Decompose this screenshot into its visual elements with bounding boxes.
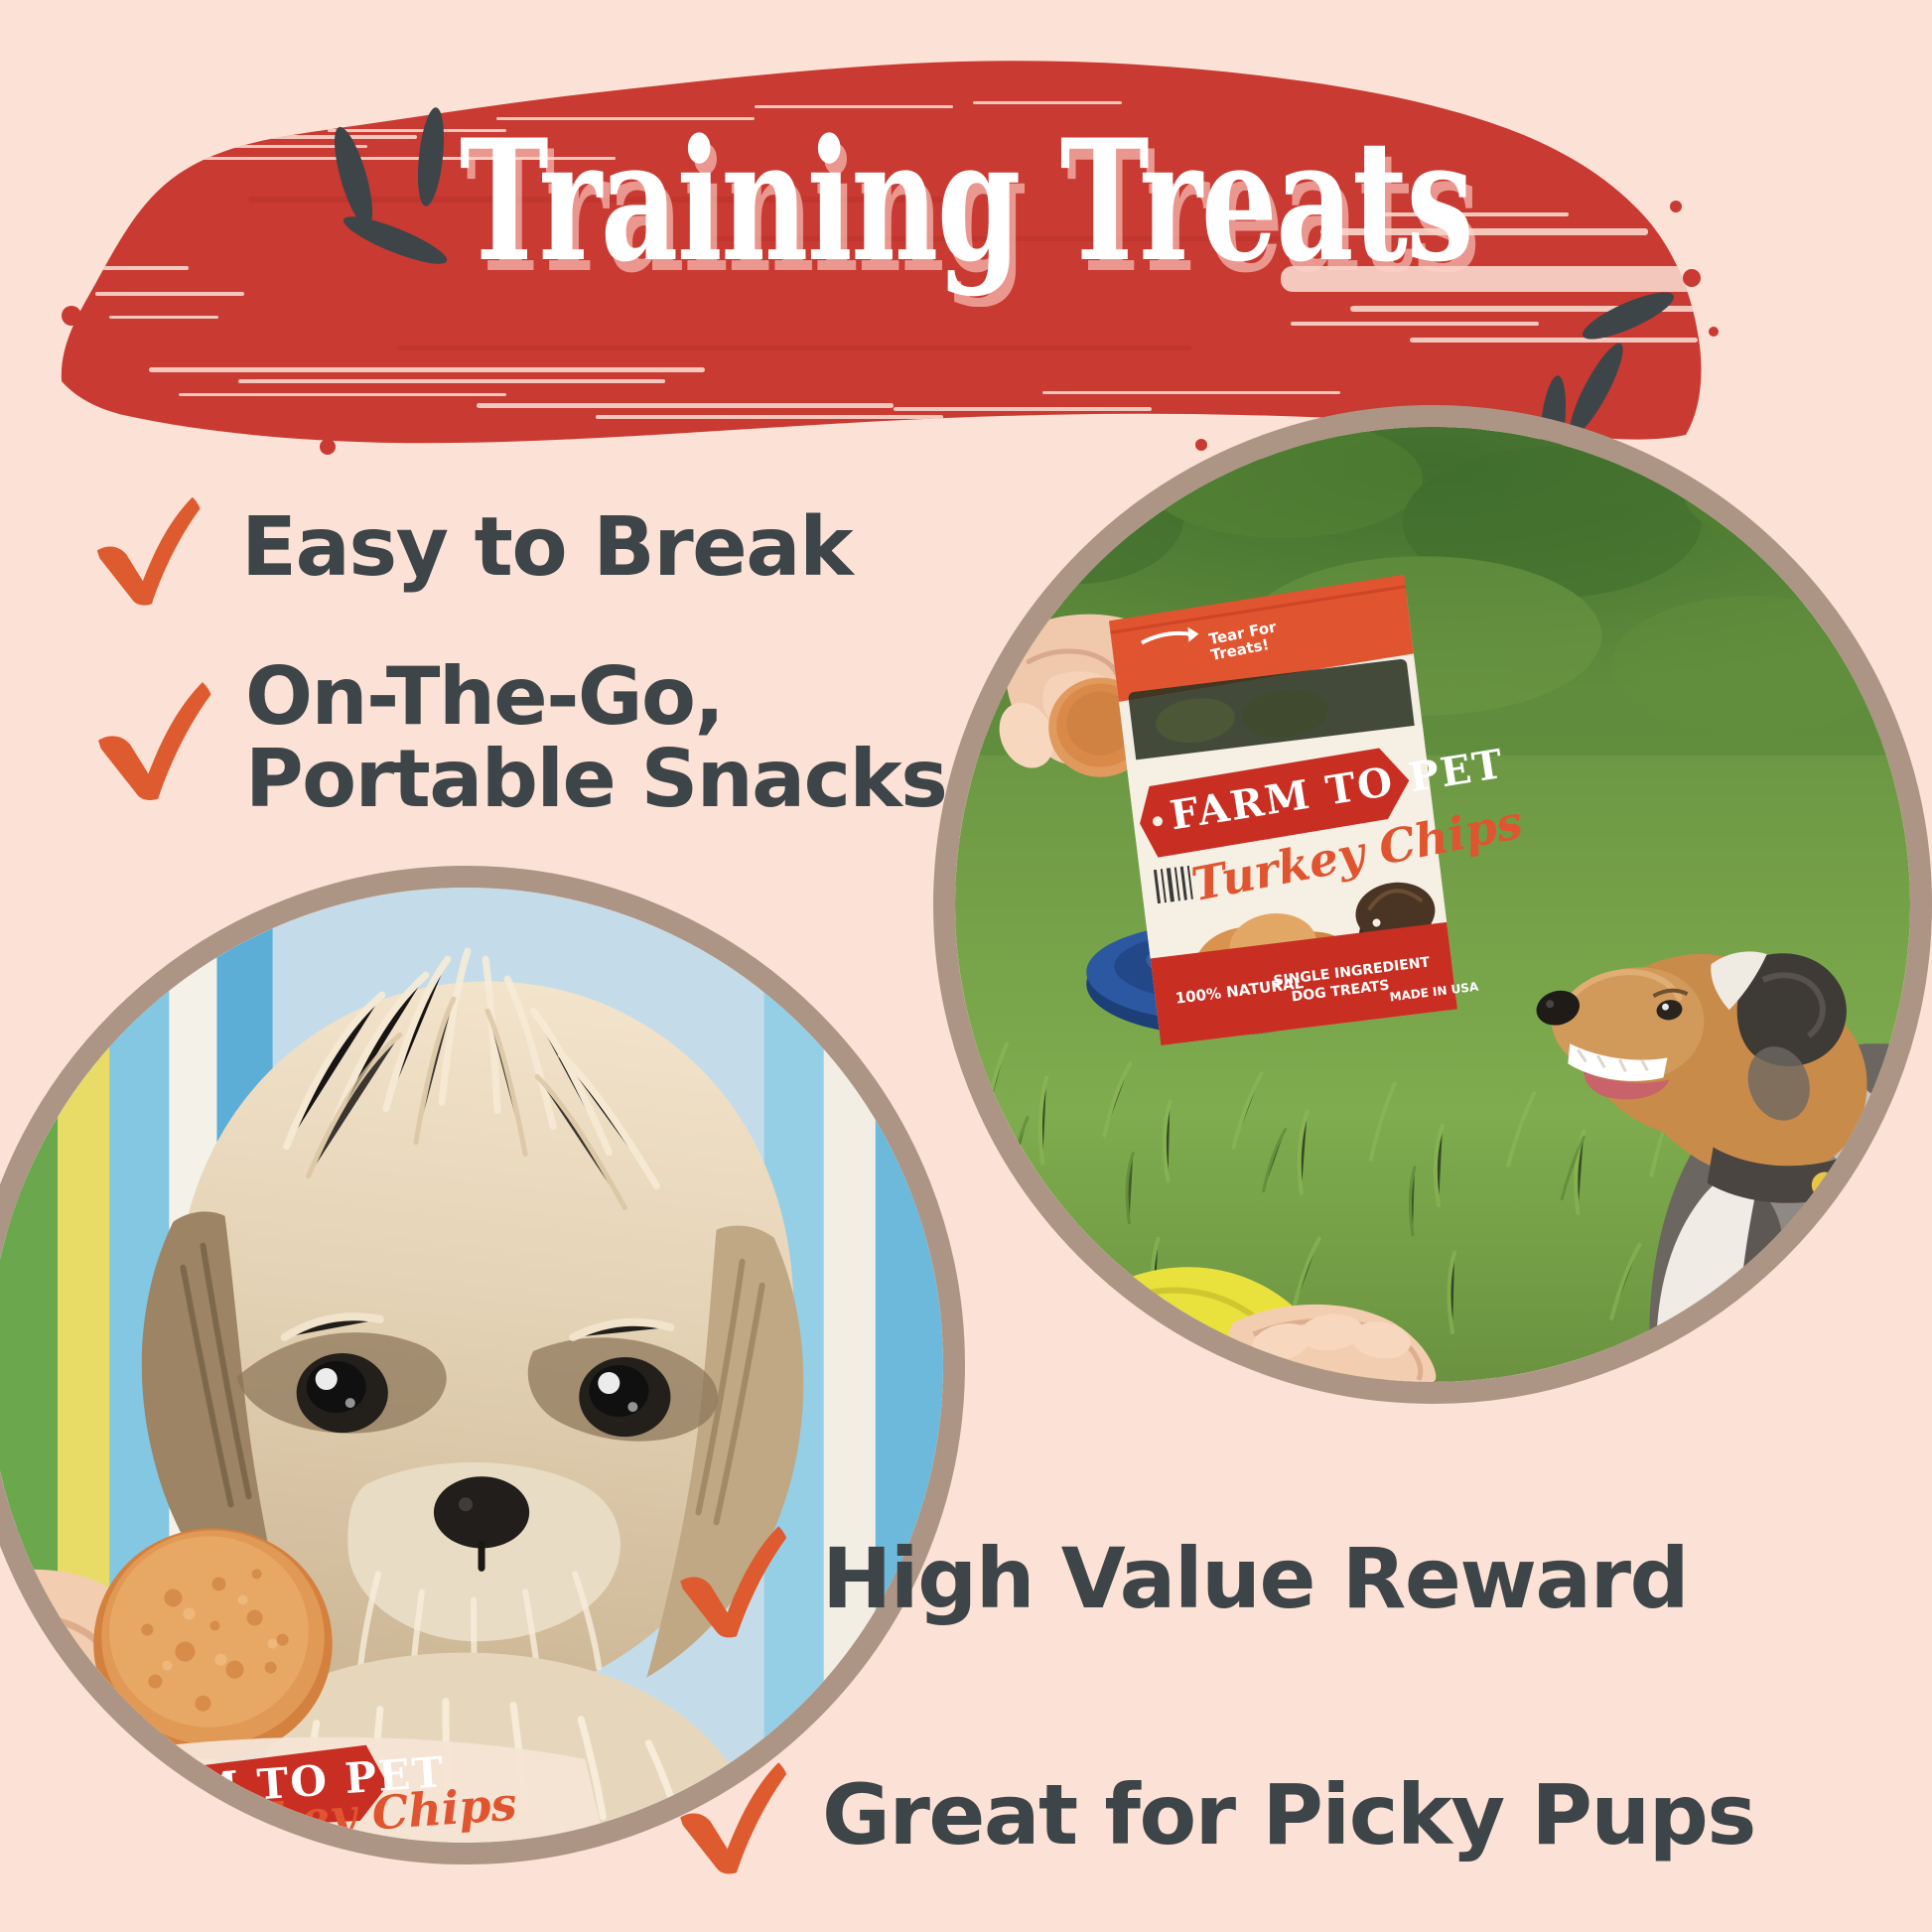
feature-item-on-the-go: On-The-Go, Portable Snacks [84, 655, 946, 820]
photo-dog-with-package: Tear For Treats! FARM TO PET Turkey Chip… [933, 405, 1932, 1404]
checkmark-icon [84, 484, 211, 612]
feature-item-high-value-reward: High Value Reward [667, 1513, 1688, 1644]
checkmark-icon [667, 1749, 798, 1880]
page-title: Training Treats [270, 117, 1661, 284]
photo-dog-sniffing-treat: FARM TO PET Turkey Chips Small cream col… [0, 866, 965, 1864]
photo-inner-topright: Tear For Treats! FARM TO PET Turkey Chip… [955, 427, 1910, 1382]
poster-canvas: Training Treats [0, 0, 1932, 1932]
feature-label: Great for Picky Pups [822, 1772, 1755, 1859]
package-bottom-left: FARM TO PET Turkey Chips [28, 1737, 605, 1843]
photo-inner-bottomleft: FARM TO PET Turkey Chips [0, 888, 943, 1843]
checkmark-icon [84, 668, 223, 807]
feature-label: On-The-Go, Portable Snacks [245, 655, 946, 820]
feature-label: High Value Reward [822, 1536, 1688, 1622]
feature-label: Easy to Break [241, 506, 852, 590]
checkmark-icon [667, 1513, 798, 1644]
feature-item-easy-to-break: Easy to Break [84, 484, 852, 612]
turkey-chip [93, 1528, 333, 1758]
feature-item-picky-pups: Great for Picky Pups [667, 1749, 1755, 1880]
